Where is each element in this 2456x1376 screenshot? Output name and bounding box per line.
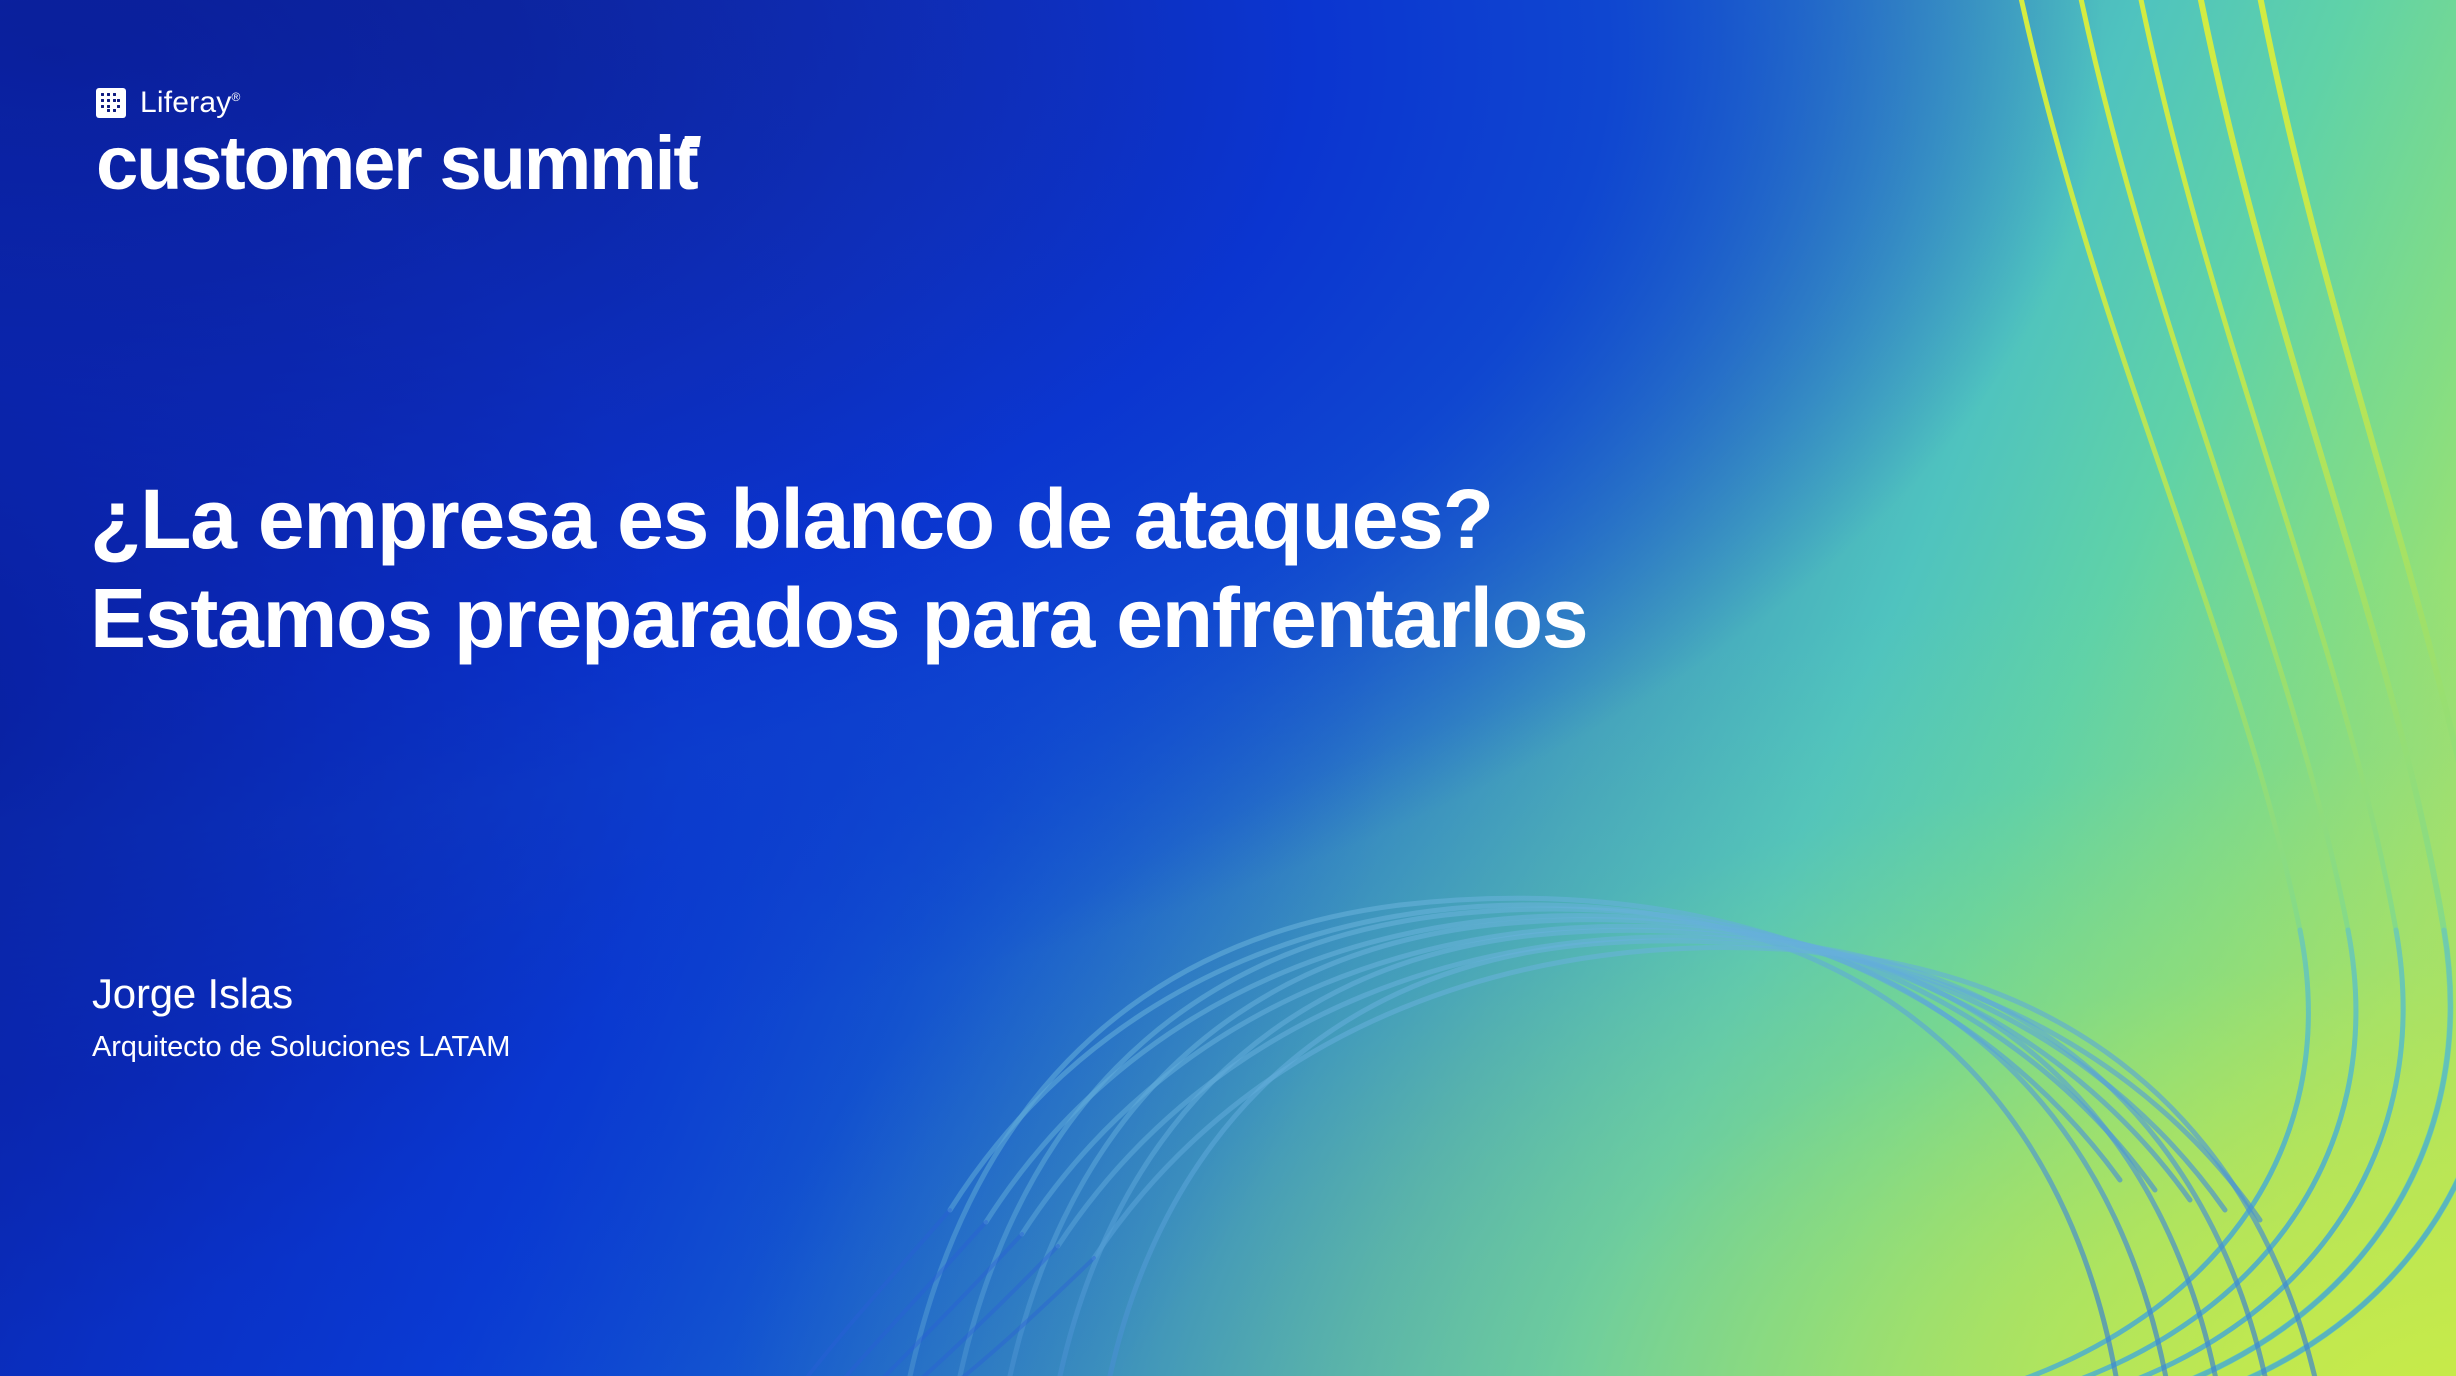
wordmark-line-customer: customer: [96, 121, 421, 206]
liferay-wordmark: Liferay®: [140, 88, 241, 118]
title-slide: Liferay® customer summit ¿La empresa es …: [0, 0, 2456, 1376]
background-glow-navy: [0, 0, 2456, 1376]
liferay-trademark-symbol: ®: [231, 90, 240, 104]
headline-line-1: ¿La empresa es blanco de ataques?: [90, 470, 1990, 569]
brand-lockup: Liferay® customer summit: [96, 86, 616, 195]
speaker-role: Arquitecto de Soluciones LATAM: [92, 1029, 510, 1065]
liferay-logo: Liferay®: [96, 86, 616, 120]
wordmark-line-summit: summit: [439, 134, 696, 195]
liferay-grid-mark-icon: [96, 88, 126, 118]
speaker-name: Jorge Islas: [92, 968, 510, 1019]
slide-headline: ¿La empresa es blanco de ataques? Estamo…: [90, 470, 1990, 668]
speaker-block: Jorge Islas Arquitecto de Soluciones LAT…: [92, 968, 510, 1065]
headline-line-2: Estamos preparados para enfrentarlos: [90, 569, 1990, 668]
liferay-wordmark-text: Liferay: [140, 86, 231, 119]
customer-summit-wordmark: customer summit: [96, 134, 616, 195]
